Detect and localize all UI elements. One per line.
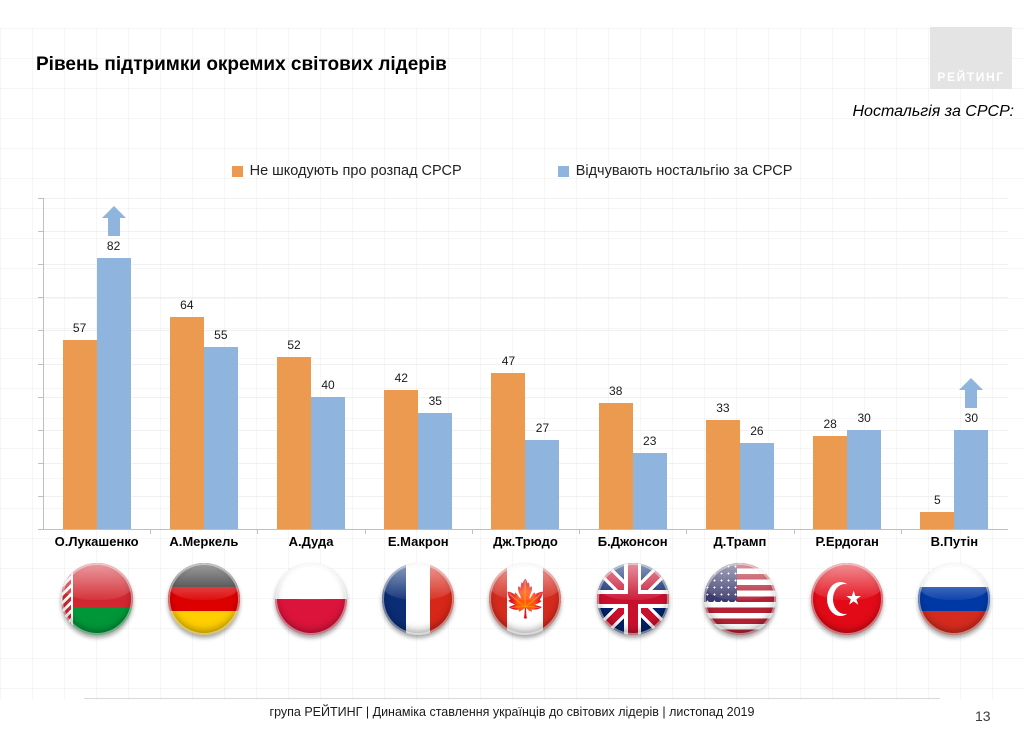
flag-cell xyxy=(365,563,472,635)
bar-value-label: 38 xyxy=(609,384,622,398)
bar-value-label: 52 xyxy=(287,338,300,352)
flag-cell xyxy=(579,563,686,635)
bar-nostalgia[interactable]: 40 xyxy=(311,397,345,529)
country-flag-row: 🍁★ xyxy=(43,563,1008,635)
bar-no-regret[interactable]: 57 xyxy=(63,340,97,529)
bar-nostalgia[interactable]: 27 xyxy=(525,440,559,529)
category-labels: О.ЛукашенкоА.МеркельА.ДудаЕ.МакронДж.Трю… xyxy=(43,534,1008,549)
footer-text: група РЕЙТИНГ | Динаміка ставлення украї… xyxy=(0,705,1024,719)
footer-divider xyxy=(84,698,940,699)
usa-flag-icon xyxy=(704,563,776,635)
chart-subtitle: Ностальгія за СРСР: xyxy=(852,103,1014,121)
bar-group: 4235 xyxy=(365,198,472,529)
category-label-0: О.Лукашенко xyxy=(43,534,150,549)
flag-cell: 🍁 xyxy=(472,563,579,635)
flag-cell xyxy=(150,563,257,635)
bar-value-label: 26 xyxy=(750,424,763,438)
bar-group: 530 xyxy=(901,198,1008,529)
legend-swatch-blue xyxy=(558,166,569,177)
bar-value-label: 64 xyxy=(180,298,193,312)
russia-flag-icon xyxy=(918,563,990,635)
bar-nostalgia[interactable]: 26 xyxy=(740,443,774,529)
bar-nostalgia[interactable]: 82 xyxy=(97,258,131,529)
bar-nostalgia[interactable]: 23 xyxy=(633,453,667,529)
category-label-7: Р.Ердоган xyxy=(794,534,901,549)
bar-no-regret[interactable]: 38 xyxy=(599,403,633,529)
bar-value-label: 23 xyxy=(643,434,656,448)
flag-cell xyxy=(686,563,793,635)
bar-no-regret[interactable]: 47 xyxy=(491,373,525,529)
bar-value-label: 57 xyxy=(73,321,86,335)
category-label-4: Дж.Трюдо xyxy=(472,534,579,549)
up-arrow-icon xyxy=(101,206,127,236)
bar-group: 3326 xyxy=(686,198,793,529)
logo-text: РЕЙТИНГ xyxy=(937,70,1004,89)
bar-value-label: 33 xyxy=(716,401,729,415)
bar-value-label: 82 xyxy=(107,239,120,253)
page-title: Рівень підтримки окремих світових лідері… xyxy=(36,54,447,76)
bar-value-label: 42 xyxy=(395,371,408,385)
legend-item-1: Відчувають ностальгію за СРСР xyxy=(558,163,793,179)
bar-no-regret[interactable]: 33 xyxy=(706,420,740,529)
bar-no-regret[interactable]: 42 xyxy=(384,390,418,529)
chart-legend: Не шкодують про розпад СРСР Відчувають н… xyxy=(0,163,1024,179)
chart-plot-area: 1009080706050403020100 57826455524042354… xyxy=(43,198,1008,529)
x-axis-line xyxy=(43,529,1008,530)
bar-no-regret[interactable]: 52 xyxy=(277,357,311,529)
category-label-8: В.Путін xyxy=(901,534,1008,549)
bar-value-label: 30 xyxy=(857,411,870,425)
flag-cell: ★ xyxy=(794,563,901,635)
bar-value-label: 5 xyxy=(934,493,941,507)
bar-no-regret[interactable]: 5 xyxy=(920,512,954,529)
bar-group: 6455 xyxy=(150,198,257,529)
legend-swatch-orange xyxy=(232,166,243,177)
category-label-6: Д.Трамп xyxy=(686,534,793,549)
category-label-5: Б.Джонсон xyxy=(579,534,686,549)
bar-no-regret[interactable]: 28 xyxy=(813,436,847,529)
slide: РЕЙТИНГ Рівень підтримки окремих світови… xyxy=(0,0,1024,732)
bar-groups: 57826455524042354727382333262830530 xyxy=(43,198,1008,529)
bar-value-label: 30 xyxy=(965,411,978,425)
legend-label-0: Не шкодують про розпад СРСР xyxy=(250,163,462,179)
bar-group: 5782 xyxy=(43,198,150,529)
bar-group: 5240 xyxy=(257,198,364,529)
bar-value-label: 40 xyxy=(321,378,334,392)
flag-cell xyxy=(257,563,364,635)
bar-nostalgia[interactable]: 35 xyxy=(418,413,452,529)
bar-value-label: 47 xyxy=(502,354,515,368)
category-label-2: А.Дуда xyxy=(257,534,364,549)
category-label-1: А.Меркель xyxy=(150,534,257,549)
canada-flag-icon: 🍁 xyxy=(489,563,561,635)
germany-flag-icon xyxy=(168,563,240,635)
flag-cell xyxy=(43,563,150,635)
bar-nostalgia[interactable]: 55 xyxy=(204,347,238,529)
flag-cell xyxy=(901,563,1008,635)
bar-value-label: 55 xyxy=(214,328,227,342)
belarus-flag-icon xyxy=(61,563,133,635)
up-arrow-icon xyxy=(958,378,984,408)
bar-no-regret[interactable]: 64 xyxy=(170,317,204,529)
page-number: 13 xyxy=(975,708,991,724)
legend-item-0: Не шкодують про розпад СРСР xyxy=(232,163,462,179)
bar-value-label: 28 xyxy=(823,417,836,431)
bar-group: 4727 xyxy=(472,198,579,529)
bar-nostalgia[interactable]: 30 xyxy=(847,430,881,529)
uk-flag-icon xyxy=(597,563,669,635)
legend-label-1: Відчувають ностальгію за СРСР xyxy=(576,163,793,179)
bar-value-label: 35 xyxy=(429,394,442,408)
bar-value-label: 27 xyxy=(536,421,549,435)
bar-group: 3823 xyxy=(579,198,686,529)
poland-flag-icon xyxy=(275,563,347,635)
bar-nostalgia[interactable]: 30 xyxy=(954,430,988,529)
category-label-3: Е.Макрон xyxy=(365,534,472,549)
bar-group: 2830 xyxy=(794,198,901,529)
turkey-flag-icon: ★ xyxy=(811,563,883,635)
rating-logo: РЕЙТИНГ xyxy=(930,27,1012,89)
france-flag-icon xyxy=(382,563,454,635)
